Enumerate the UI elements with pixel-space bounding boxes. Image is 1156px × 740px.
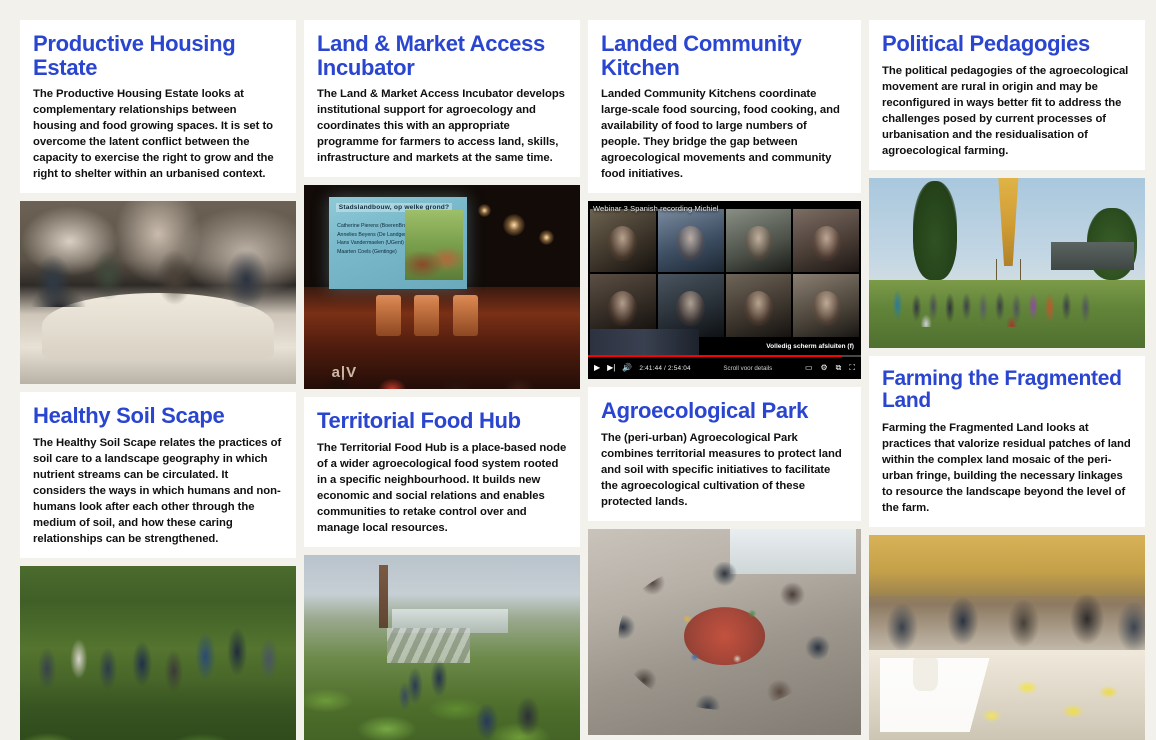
- lecture-stage-photo[interactable]: Stadslandbouw, op welke grond? Catherine…: [304, 185, 580, 389]
- workshop-table-photo[interactable]: [20, 201, 296, 384]
- card-body: The Productive Housing Estate looks at c…: [33, 86, 283, 182]
- card-healthy-soil-scape[interactable]: Healthy Soil Scape The Healthy Soil Scap…: [20, 392, 296, 558]
- meeting-table-papers-photo[interactable]: [869, 535, 1145, 740]
- card-title: Farming the Fragmented Land: [882, 368, 1132, 413]
- stage-panel-left: [376, 295, 401, 336]
- card-body: The Territorial Food Hub is a place-base…: [317, 440, 567, 536]
- participant-tile: [658, 209, 724, 272]
- miniplayer-icon[interactable]: ⧉: [836, 364, 842, 372]
- video-preview-thumbnail: [590, 329, 699, 355]
- card-title: Land & Market Access Incubator: [317, 32, 567, 79]
- card-land-market-access-incubator[interactable]: Land & Market Access Incubator The Land …: [304, 20, 580, 177]
- group-of-people: [888, 253, 1125, 328]
- video-time-display: 2:41:44 / 2:54:04: [639, 365, 690, 372]
- allotment-landscape-photo[interactable]: [304, 555, 580, 740]
- card-productive-housing-estate[interactable]: Productive Housing Estate The Productive…: [20, 20, 296, 193]
- participant-tile: [726, 274, 792, 337]
- card-farming-the-fragmented-land[interactable]: Farming the Fragmented Land Farming the …: [869, 356, 1145, 527]
- stage-panel-right: [453, 295, 478, 336]
- next-track-icon[interactable]: ▶|: [607, 364, 615, 372]
- slide-photo: [405, 210, 463, 280]
- participant-tile: [590, 209, 656, 272]
- chimney: [379, 565, 388, 629]
- card-political-pedagogies[interactable]: Political Pedagogies The political pedag…: [869, 20, 1145, 170]
- board-column-1: Productive Housing Estate The Productive…: [20, 20, 296, 740]
- garden-foliage: [20, 680, 296, 740]
- board-column-2: Land & Market Access Incubator The Land …: [304, 20, 580, 740]
- participant-tile: [658, 274, 724, 337]
- card-body: The political pedagogies of the agroecol…: [882, 63, 1132, 159]
- card-body: The Healthy Soil Scape relates the pract…: [33, 435, 283, 547]
- group-photo-water-tower[interactable]: [869, 178, 1145, 348]
- board-column-3: Landed Community Kitchen Landed Communit…: [588, 20, 861, 735]
- card-body: Landed Community Kitchens coordinate lar…: [601, 86, 848, 182]
- garden-tour-group-photo[interactable]: [20, 566, 296, 740]
- card-body: Farming the Fragmented Land looks at pra…: [882, 420, 1132, 516]
- fullscreen-tooltip: Volledig scherm afsluiten (f): [763, 342, 857, 351]
- fullscreen-icon[interactable]: ⛶: [849, 364, 855, 372]
- concept-card-board: Productive Housing Estate The Productive…: [0, 0, 1156, 740]
- audience-heads: [304, 344, 580, 389]
- card-title: Territorial Food Hub: [317, 409, 567, 433]
- video-controls-bar[interactable]: ▶ ▶| 🔊 2:41:44 / 2:54:04 Scroll voor det…: [588, 357, 861, 379]
- participant-grid: [588, 209, 861, 337]
- video-call-recording-player[interactable]: Webinar 3 Spanish recording Michiel Voll…: [588, 201, 861, 379]
- video-right-controls[interactable]: ▭ ⚙ ⧉ ⛶: [805, 364, 855, 372]
- card-territorial-food-hub[interactable]: Territorial Food Hub The Territorial Foo…: [304, 397, 580, 547]
- card-title: Landed Community Kitchen: [601, 32, 848, 79]
- participant-tile: [726, 209, 792, 272]
- participant-tile: [590, 274, 656, 337]
- card-landed-community-kitchen[interactable]: Landed Community Kitchen Landed Communit…: [588, 20, 861, 193]
- card-title: Political Pedagogies: [882, 32, 1132, 56]
- coffee-mug: [913, 658, 938, 691]
- card-title: Agroecological Park: [601, 399, 848, 423]
- board-column-4: Political Pedagogies The political pedag…: [869, 20, 1145, 740]
- stage-panel-mid: [414, 295, 439, 336]
- stage-light-icon: [478, 204, 491, 217]
- scroll-hint-label: Scroll voor details: [698, 365, 798, 372]
- stage-light-icon: [539, 230, 554, 245]
- play-icon[interactable]: ▶: [594, 364, 600, 372]
- projected-slide: Stadslandbouw, op welke grond? Catherine…: [329, 197, 467, 289]
- overhead-workshop-circle-photo[interactable]: [588, 529, 861, 735]
- participant-tile: [793, 274, 859, 337]
- settings-gear-icon[interactable]: ⚙: [821, 364, 828, 372]
- card-agroecological-park[interactable]: Agroecological Park The (peri-urban) Agr…: [588, 387, 861, 521]
- volume-icon[interactable]: 🔊: [622, 364, 632, 372]
- floor-objects: [662, 593, 788, 680]
- video-overlay-title: Webinar 3 Spanish recording Michiel: [593, 204, 719, 213]
- card-body: The Land & Market Access Incubator devel…: [317, 86, 567, 166]
- stage-light-icon: [503, 214, 525, 236]
- card-body: The (peri-urban) Agroecological Park com…: [601, 430, 848, 510]
- subtitles-icon[interactable]: ▭: [805, 364, 813, 372]
- allotment-visitors: [398, 658, 569, 740]
- card-title: Healthy Soil Scape: [33, 404, 283, 428]
- participant-tile: [793, 209, 859, 272]
- card-title: Productive Housing Estate: [33, 32, 283, 79]
